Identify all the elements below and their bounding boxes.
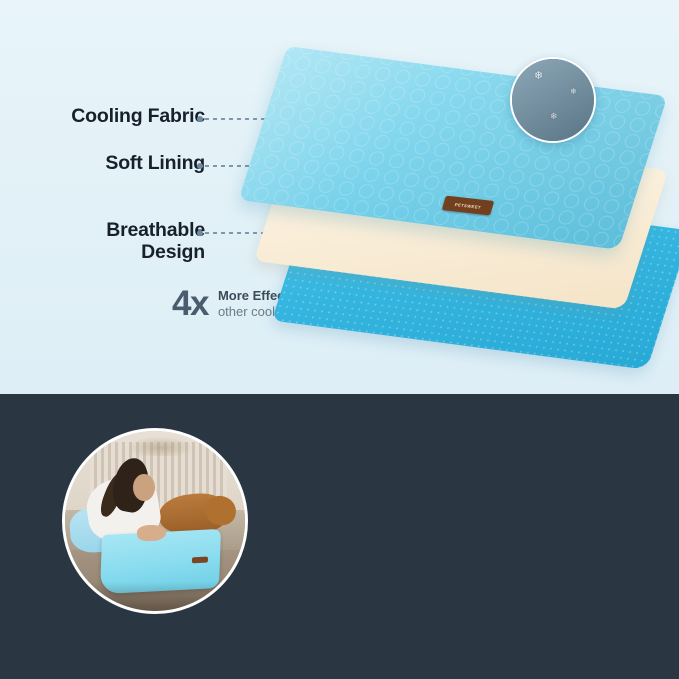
leader-dot-start <box>197 116 203 122</box>
callout-label: Breathable Design <box>106 220 205 264</box>
photo-mat-tag <box>192 557 208 563</box>
features-section: BUILT FOR FORM & FUNCTION Waterproof won… <box>0 394 679 679</box>
inset-gloss <box>512 59 594 141</box>
brand-tag-text: PETSWEET <box>454 202 481 210</box>
product-exploded-illustration: PETSWEET ❄ ❄ ❄ <box>258 48 679 378</box>
badge-multiplier: 4x <box>172 286 208 321</box>
callout-cooling-fabric: Cooling Fabric <box>20 106 205 128</box>
product-layers-section: Cooling Fabric Soft Lining Breathable De… <box>0 0 679 394</box>
lifestyle-photo <box>62 428 248 614</box>
callout-label: Soft Lining <box>105 153 205 175</box>
callout-label: Cooling Fabric <box>71 106 205 128</box>
callout-breathable-design: Breathable Design <box>20 220 205 264</box>
callout-soft-lining: Soft Lining <box>20 153 205 175</box>
infographic-page: Cooling Fabric Soft Lining Breathable De… <box>0 0 679 679</box>
leader-dot-start <box>197 163 203 169</box>
photo-person-face <box>133 474 155 501</box>
leader-dot-start <box>197 230 203 236</box>
fabric-closeup-inset: ❄ ❄ ❄ <box>510 57 596 143</box>
photo-wall-decor <box>123 435 199 457</box>
photo-vignette <box>65 582 245 611</box>
